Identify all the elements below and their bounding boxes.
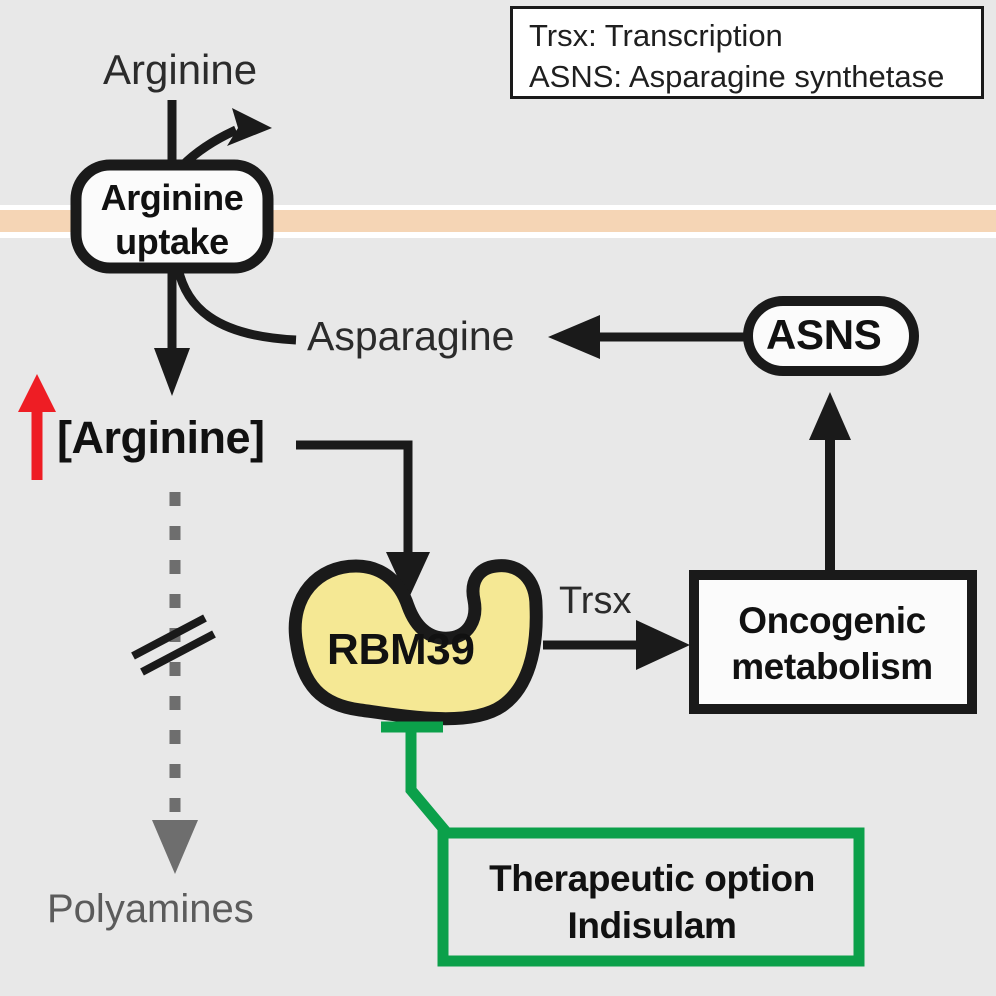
pathway-diagram	[0, 0, 996, 996]
label-therapy-line2: Indisulam	[447, 902, 857, 949]
upregulation-arrow	[18, 374, 56, 480]
legend-line-trsx: Trsx: Transcription	[529, 15, 981, 56]
label-oncogenic-metabolism: Oncogenic metabolism	[696, 598, 968, 691]
edge-asparagine-to-uptake	[178, 268, 296, 340]
arrowhead-uptake-to-arginine-pool	[154, 348, 190, 396]
edge-indisulam-inhibits-rbm39	[381, 727, 447, 833]
label-arginine-extracellular: Arginine	[103, 48, 257, 92]
label-asparagine: Asparagine	[307, 315, 514, 358]
label-rbm39: RBM39	[327, 627, 475, 673]
edge-arginine-to-polyamines-blocked	[152, 492, 198, 874]
label-trsx: Trsx	[559, 582, 631, 622]
abbreviation-legend: Trsx: Transcription ASNS: Asparagine syn…	[510, 6, 984, 99]
label-asns: ASNS	[766, 313, 882, 357]
edge-rbm39-to-oncogenic	[543, 620, 690, 670]
label-therapy-line1: Therapeutic option	[447, 855, 857, 902]
label-arginine-uptake-line2: uptake	[76, 220, 268, 264]
label-oncogenic-line1: Oncogenic	[696, 598, 968, 644]
label-oncogenic-line2: metabolism	[696, 644, 968, 690]
label-arginine-intracellular: [Arginine]	[57, 414, 264, 461]
label-polyamines: Polyamines	[47, 888, 254, 930]
label-arginine-uptake: Arginine uptake	[76, 176, 268, 264]
arrowhead-asns-to-asparagine	[548, 315, 600, 359]
label-therapeutic-option: Therapeutic option Indisulam	[447, 855, 857, 950]
label-arginine-uptake-line1: Arginine	[76, 176, 268, 220]
edge-oncogenic-to-asns	[809, 392, 851, 570]
figure-canvas: Trsx: Transcription ASNS: Asparagine syn…	[0, 0, 996, 996]
legend-line-asns: ASNS: Asparagine synthetase	[529, 56, 981, 97]
